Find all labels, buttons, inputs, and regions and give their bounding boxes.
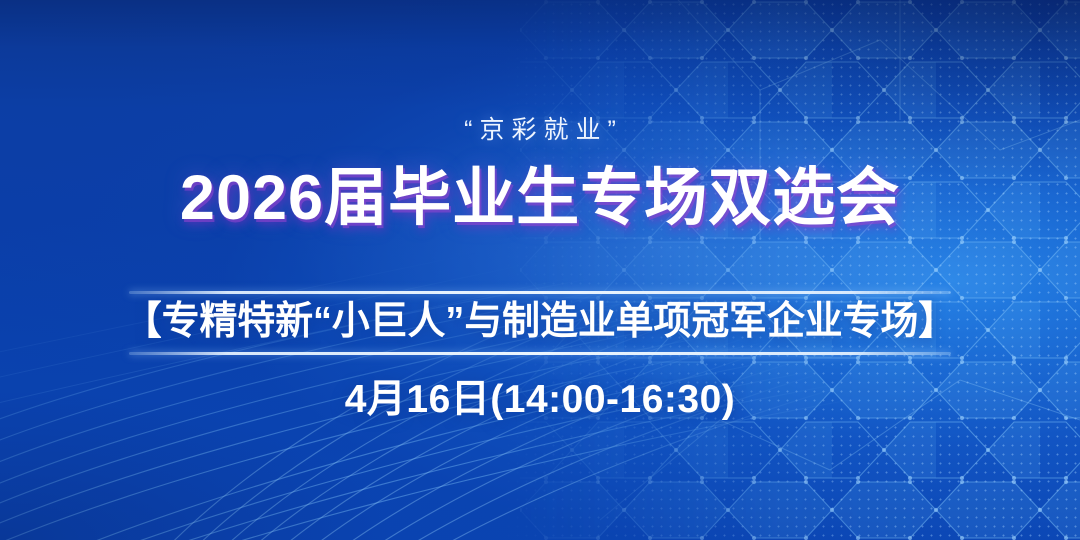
banner-datetime: 4月16日(14:00-16:30)	[345, 380, 736, 419]
subhead-rule-block: 【专精特新“小巨人”与制造业单项冠军企业专场】	[129, 291, 951, 355]
banner-content: “京彩就业” 2026届毕业生专场双选会 【专精特新“小巨人”与制造业单项冠军企…	[0, 0, 1080, 540]
banner-subheadline: 【专精特新“小巨人”与制造业单项冠军企业专场】	[124, 302, 956, 343]
divider-line-top	[129, 291, 951, 294]
event-banner: “京彩就业” 2026届毕业生专场双选会 【专精特新“小巨人”与制造业单项冠军企…	[0, 0, 1080, 540]
banner-eyebrow-text: “京彩就业”	[457, 118, 623, 143]
divider-line-bottom	[129, 352, 951, 355]
banner-headline: 2026届毕业生专场双选会	[180, 167, 900, 230]
